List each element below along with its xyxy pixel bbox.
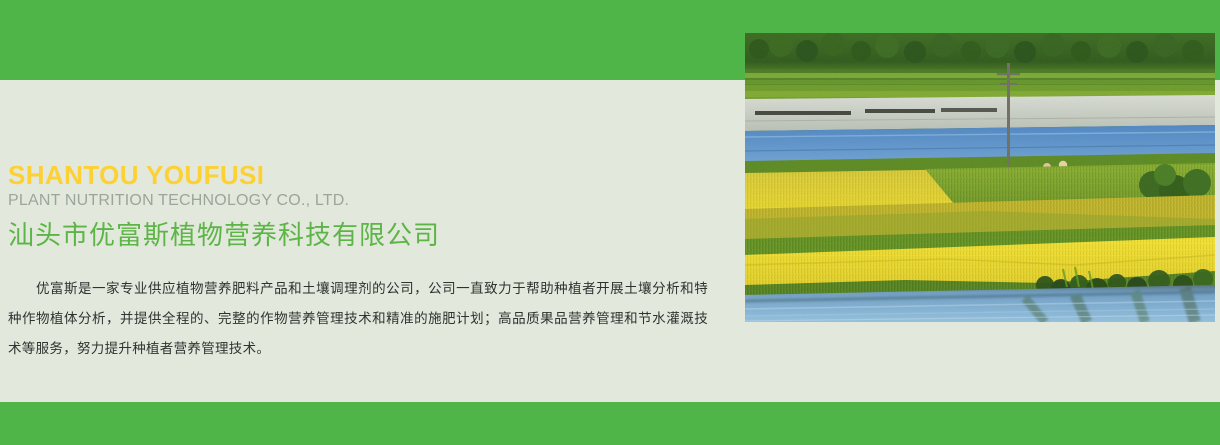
- brand-tagline-english: PLANT NUTRITION TECHNOLOGY CO., LTD.: [8, 190, 718, 212]
- brand-name-english: SHANTOU YOUFUSI: [8, 160, 718, 190]
- page-root: SHANTOU YOUFUSI PLANT NUTRITION TECHNOLO…: [0, 0, 1220, 445]
- company-intro-paragraph: 优富斯是一家专业供应植物营养肥料产品和土壤调理剂的公司，公司一直致力于帮助种植者…: [8, 274, 708, 364]
- bottom-green-band: [0, 402, 1220, 445]
- farmland-photo: [745, 33, 1215, 322]
- farmland-photo-graphic: [745, 33, 1215, 322]
- brand-name-chinese: 汕头市优富斯植物营养科技有限公司: [8, 218, 718, 252]
- company-intro-block: SHANTOU YOUFUSI PLANT NUTRITION TECHNOLO…: [8, 160, 718, 364]
